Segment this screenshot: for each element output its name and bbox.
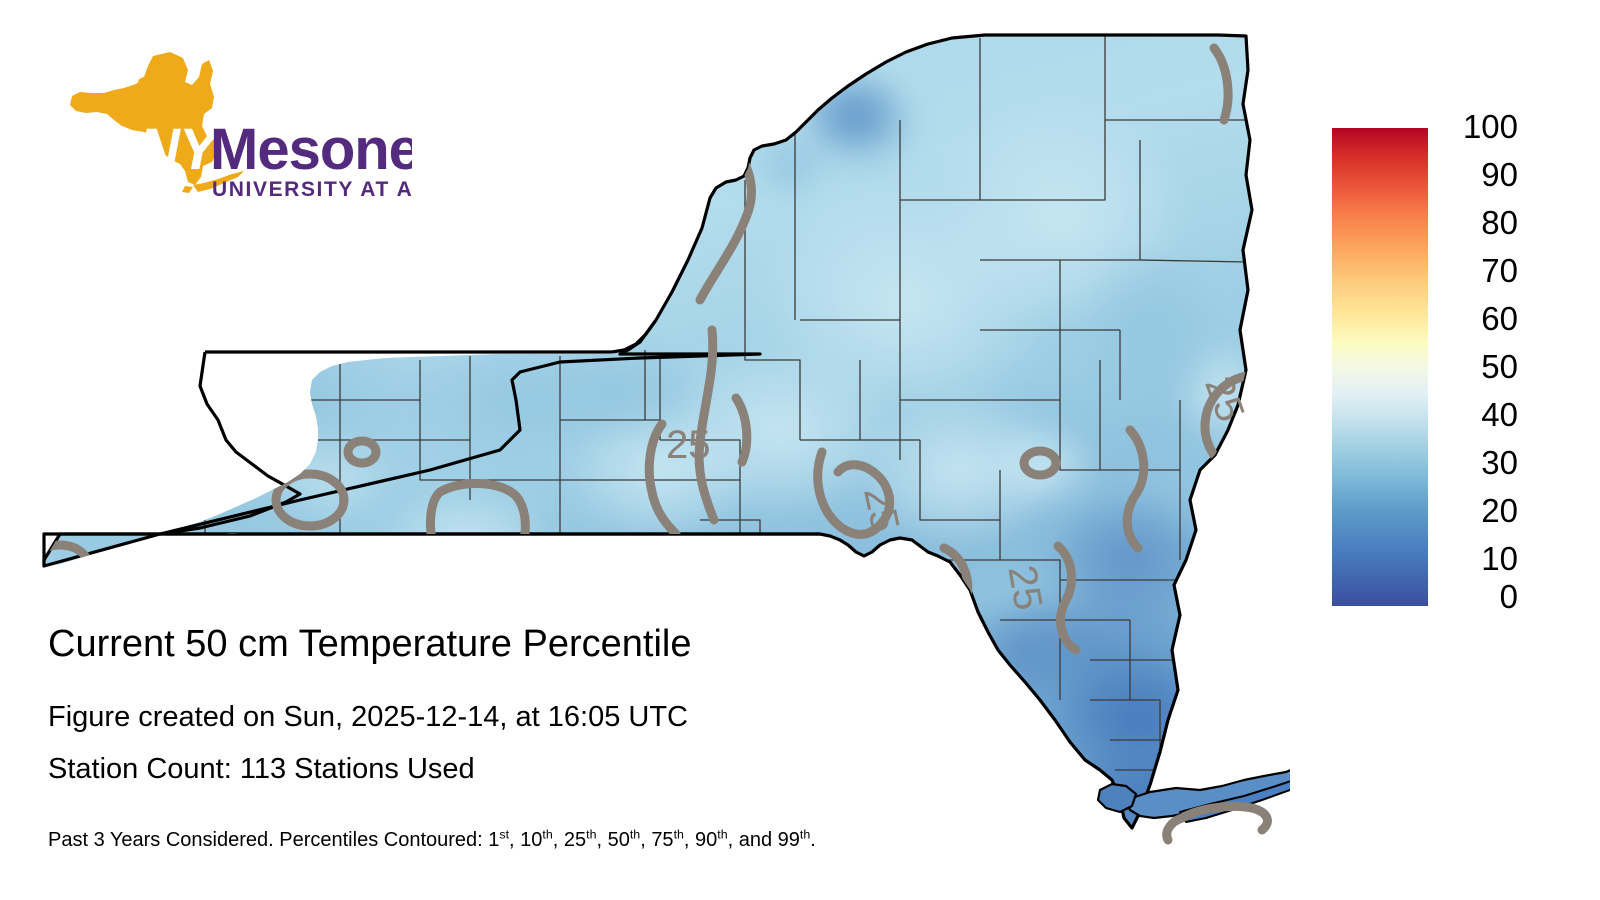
page-title: Current 50 cm Temperature Percentile [48, 622, 691, 666]
footnote-p1-suffix: st [499, 827, 509, 841]
footnote-p7-suffix: th [800, 827, 810, 841]
contour-label-25-c: 25 [999, 562, 1050, 613]
footnote-sep-3: , [596, 829, 607, 851]
footnote-sep-1: , [509, 829, 520, 851]
footnote-p3-suffix: th [586, 827, 596, 841]
footnote-p2-suffix: th [542, 827, 552, 841]
footnote-sep-2: , [553, 829, 564, 851]
footnote-p5-suffix: th [674, 827, 684, 841]
colorbar-tick-50: 50 [1481, 350, 1518, 383]
footnote-p5: 75 [651, 829, 673, 851]
footnote-sep-4: , [640, 829, 651, 851]
colorbar-tick-0: 0 [1500, 580, 1518, 613]
footnote-p6-suffix: th [717, 827, 727, 841]
figure-canvas: NYS Mesonet UNIVERSITY AT ALBANY [0, 0, 1600, 900]
colorbar-tick-20: 20 [1481, 494, 1518, 527]
colorbar-tick-70: 70 [1481, 254, 1518, 287]
colorbar-tick-10: 10 [1481, 542, 1518, 575]
contour-label-25-a: 25 [666, 423, 711, 467]
footnote-p4: 50 [608, 829, 630, 851]
footnote-end: . [810, 829, 816, 851]
footnote-p1: 1 [488, 829, 499, 851]
footnote-p4-suffix: th [630, 827, 640, 841]
colorbar-tick-40: 40 [1481, 398, 1518, 431]
footnote-lead: Past 3 Years Considered. Percentiles Con… [48, 829, 488, 851]
footnote-p7: 99 [778, 829, 800, 851]
contour-label-25-b: 25 [855, 483, 907, 536]
footnote-sep-5: , [684, 829, 695, 851]
colorbar-tick-80: 80 [1481, 206, 1518, 239]
contour-footnote: Past 3 Years Considered. Percentiles Con… [48, 827, 816, 853]
colorbar-tick-100: 100 [1463, 110, 1518, 143]
colorbar-tick-30: 30 [1481, 446, 1518, 479]
footnote-p6: 90 [695, 829, 717, 851]
colorbar-tick-90: 90 [1481, 158, 1518, 191]
colorbar-tick-60: 60 [1481, 302, 1518, 335]
percentile-colorbar [1332, 128, 1428, 606]
station-count-text: Station Count: 113 Stations Used [48, 752, 475, 786]
footnote-p3: 25 [564, 829, 586, 851]
figure-created-text: Figure created on Sun, 2025-12-14, at 16… [48, 700, 688, 734]
footnote-and: , and [728, 829, 778, 851]
colorbar-gradient [1332, 128, 1428, 606]
colorbar-tick-labels: 100 90 80 70 60 50 40 30 20 10 0 [1436, 110, 1546, 624]
footnote-p2: 10 [520, 829, 542, 851]
